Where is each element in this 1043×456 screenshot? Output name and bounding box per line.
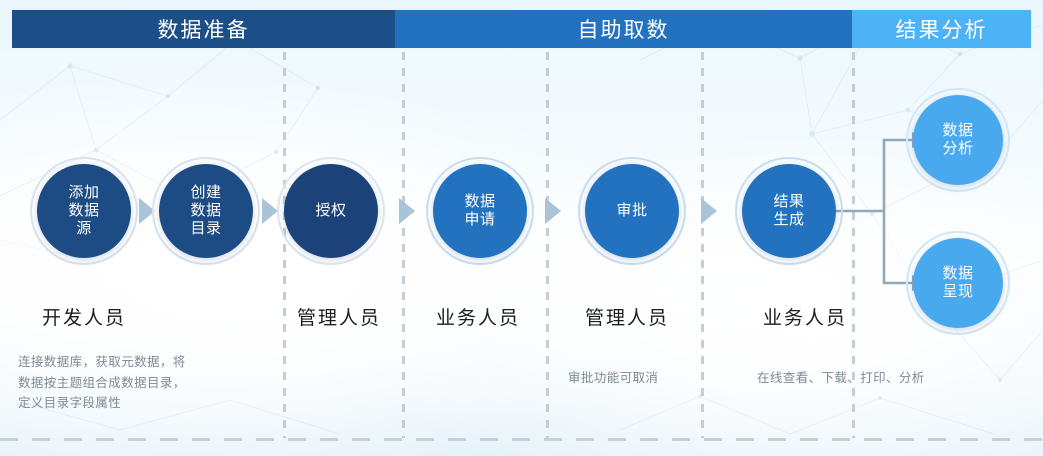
desc-approval: 审批功能可取消 <box>568 368 658 389</box>
lane-divider-3 <box>546 52 549 438</box>
role-business-1: 业务人员 <box>418 303 538 330</box>
arrow-3-icon <box>399 198 415 224</box>
node-label-add-data-source: 添加 数据 源 <box>68 184 99 239</box>
arrow-4-icon <box>545 198 561 224</box>
lane-divider-1 <box>283 52 286 438</box>
arrow-5-icon <box>701 198 717 224</box>
node-result-generate[interactable]: 结果 生成 <box>742 164 836 258</box>
phase-header-bar: 数据准备 自助取数 结果分析 <box>12 10 1031 48</box>
node-data-analysis[interactable]: 数据 分析 <box>913 95 1003 185</box>
lane-divider-4 <box>701 52 704 438</box>
phase-header-data-preparation[interactable]: 数据准备 <box>12 10 395 48</box>
node-authorize[interactable]: 授权 <box>284 164 378 258</box>
lane-divider-2 <box>402 52 405 438</box>
node-label-authorize: 授权 <box>315 202 346 220</box>
node-label-result-generate: 结果 生成 <box>773 193 804 230</box>
desc-result: 在线查看、下载、打印、分析 <box>757 368 925 389</box>
role-developer: 开发人员 <box>24 303 144 330</box>
phase-header-self-service-query[interactable]: 自助取数 <box>395 10 852 48</box>
phase-header-result-analysis[interactable]: 结果分析 <box>852 10 1031 48</box>
bottom-dashed-divider <box>0 438 1043 441</box>
node-approval[interactable]: 审批 <box>585 164 679 258</box>
role-business-2: 业务人员 <box>745 303 865 330</box>
node-label-data-request: 数据 申请 <box>464 193 495 230</box>
arrow-2-icon <box>262 198 278 224</box>
role-admin-1: 管理人员 <box>279 303 399 330</box>
node-data-present[interactable]: 数据 呈现 <box>913 238 1003 328</box>
desc-data-prep: 连接数据库，获取元数据，将 数据按主题组合成数据目录， 定义目录字段属性 <box>18 352 186 414</box>
node-data-request[interactable]: 数据 申请 <box>433 164 527 258</box>
node-label-approval: 审批 <box>616 202 647 220</box>
node-label-data-analysis: 数据 分析 <box>942 122 973 159</box>
node-label-data-present: 数据 呈现 <box>942 265 973 302</box>
node-create-catalog[interactable]: 创建 数据 目录 <box>159 164 253 258</box>
node-label-create-catalog: 创建 数据 目录 <box>190 184 221 239</box>
role-admin-2: 管理人员 <box>567 303 687 330</box>
node-add-data-source[interactable]: 添加 数据 源 <box>37 164 131 258</box>
